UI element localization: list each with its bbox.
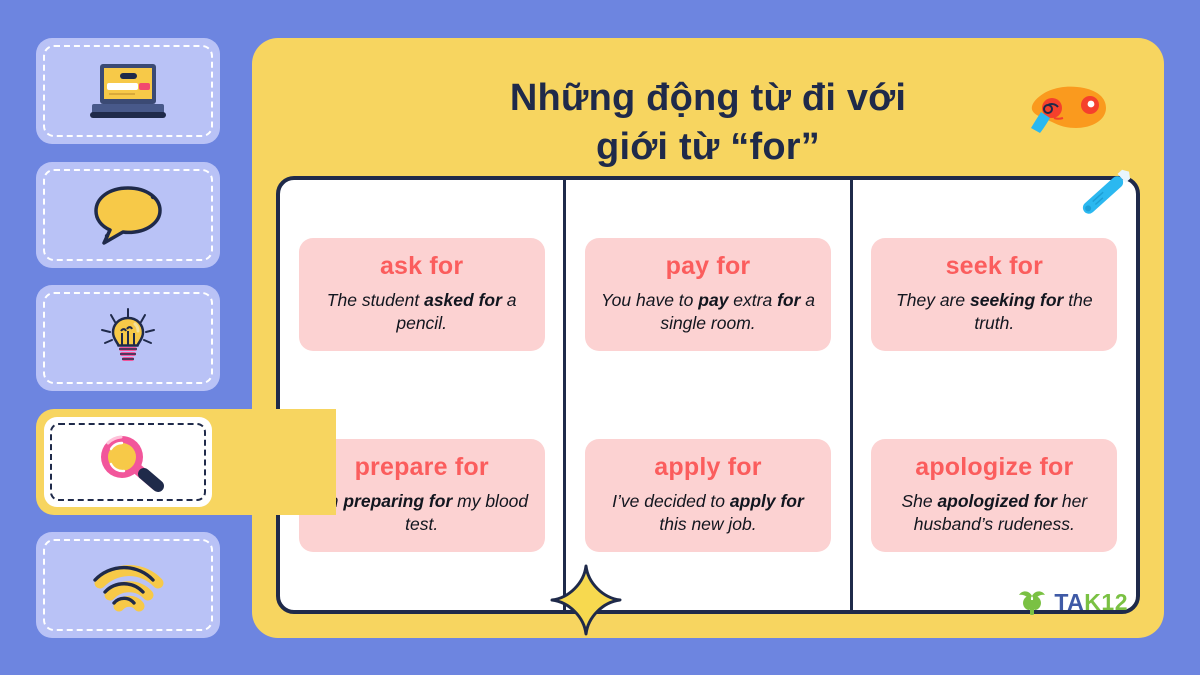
verb-card[interactable]: pay for You have to pay extra for a sing…: [585, 238, 831, 351]
verb-card-title: seek for: [883, 252, 1105, 281]
verb-card-title: pay for: [597, 252, 819, 281]
speech-bubble-icon: [80, 180, 176, 250]
sidebar-item-laptop[interactable]: [36, 38, 220, 144]
verb-card-example: The student asked for a pencil.: [311, 289, 533, 335]
magnifier-icon: [80, 427, 176, 497]
logo-wordmark: TAK12: [1054, 591, 1128, 614]
column-1: ask for The student asked for a pencil. …: [280, 180, 563, 610]
verb-card-title: ask for: [311, 252, 533, 281]
verb-card-example: I’m preparing for my blood test.: [311, 490, 533, 536]
tree-icon: [1017, 588, 1047, 616]
main-panel: Những động từ đi với giới từ “for” ask f…: [252, 38, 1164, 638]
column-3: seek for They are seeking for the truth.…: [850, 180, 1136, 610]
verb-card-example: She apologized for her husband’s rudenes…: [883, 490, 1105, 536]
megaphone-blob-icon: [1008, 82, 1108, 144]
logo-text-secondary: K12: [1084, 589, 1128, 615]
verb-card-example: I’ve decided to apply for this new job.: [597, 490, 819, 536]
verb-card[interactable]: apologize for She apologized for her hus…: [871, 439, 1117, 552]
column-2: pay for You have to pay extra for a sing…: [563, 180, 849, 610]
verb-card[interactable]: apply for I’ve decided to apply for this…: [585, 439, 831, 552]
sidebar-item-wifi[interactable]: [36, 532, 220, 638]
logo: TAK12: [1017, 588, 1128, 616]
verb-card-title: apply for: [597, 453, 819, 482]
lightbulb-icon: [80, 303, 176, 373]
laptop-icon: [80, 56, 176, 126]
sidebar: [36, 38, 220, 638]
wifi-icon: [80, 550, 176, 620]
verb-card-title: prepare for: [311, 453, 533, 482]
verb-card-example: You have to pay extra for a single room.: [597, 289, 819, 335]
logo-text-primary: TA: [1054, 589, 1084, 615]
sidebar-item-speech-bubble[interactable]: [36, 162, 220, 268]
verb-card-example: They are seeking for the truth.: [883, 289, 1105, 335]
verb-board: ask for The student asked for a pencil. …: [276, 176, 1140, 614]
sidebar-item-lightbulb[interactable]: [36, 285, 220, 391]
verb-card-title: apologize for: [883, 453, 1105, 482]
sidebar-item-magnifier[interactable]: [36, 409, 220, 515]
sparkle-icon: [548, 562, 624, 638]
verb-card[interactable]: seek for They are seeking for the truth.: [871, 238, 1117, 351]
pen-icon: [1064, 156, 1142, 234]
verb-card[interactable]: ask for The student asked for a pencil.: [299, 238, 545, 351]
